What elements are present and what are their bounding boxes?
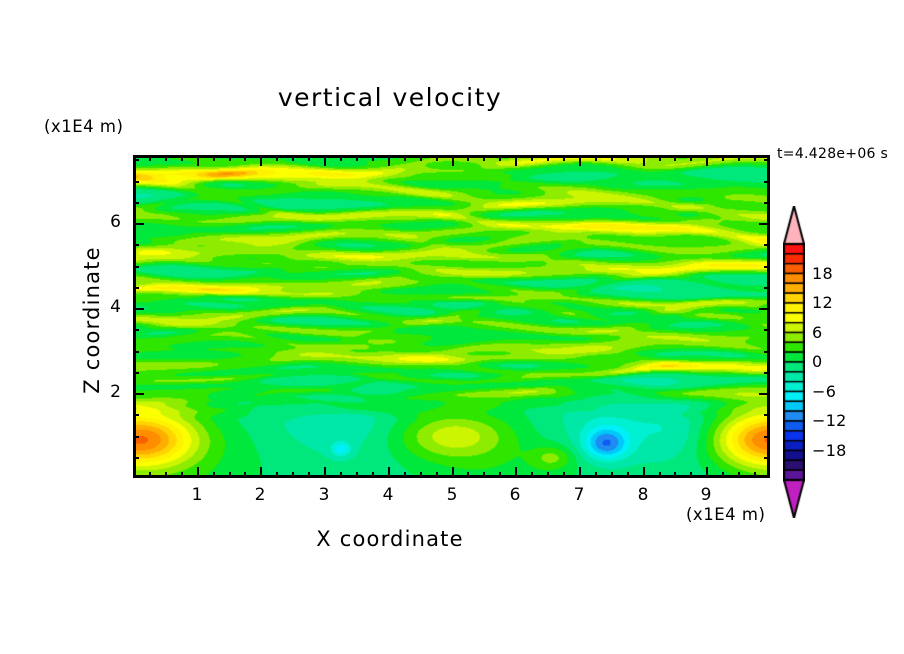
x-major-tick bbox=[324, 467, 326, 478]
x-major-tick bbox=[260, 467, 262, 478]
y-major-tick bbox=[133, 223, 144, 225]
x-top-minor-tick bbox=[308, 155, 310, 161]
x-minor-tick bbox=[276, 472, 278, 478]
x-minor-tick bbox=[308, 472, 310, 478]
x-top-minor-tick bbox=[420, 155, 422, 161]
x-top-minor-tick bbox=[356, 155, 358, 161]
x-tick-label: 9 bbox=[691, 485, 721, 505]
x-top-major-tick bbox=[515, 155, 517, 166]
x-minor-tick bbox=[595, 472, 597, 478]
x-top-minor-tick bbox=[292, 155, 294, 161]
y-minor-tick bbox=[133, 159, 139, 161]
x-top-minor-tick bbox=[276, 155, 278, 161]
x-top-major-tick bbox=[197, 155, 199, 166]
x-tick-label: 2 bbox=[245, 485, 275, 505]
x-minor-tick bbox=[404, 472, 406, 478]
y-right-major-tick bbox=[759, 223, 770, 225]
x-major-tick bbox=[579, 467, 581, 478]
x-tick-label: 1 bbox=[182, 485, 212, 505]
y-minor-tick bbox=[133, 414, 139, 416]
x-minor-tick bbox=[420, 472, 422, 478]
x-top-minor-tick bbox=[738, 155, 740, 161]
colorbar-tick-label: 12 bbox=[812, 293, 833, 312]
y-minor-tick bbox=[133, 266, 139, 268]
y-axis-title: Z coordinate bbox=[52, 0, 76, 200]
x-minor-tick bbox=[499, 472, 501, 478]
x-minor-tick bbox=[467, 472, 469, 478]
page-title: vertical velocity bbox=[0, 83, 780, 112]
x-top-minor-tick bbox=[563, 155, 565, 161]
x-top-minor-tick bbox=[404, 155, 406, 161]
x-top-major-tick bbox=[260, 155, 262, 166]
y-right-minor-tick bbox=[764, 414, 770, 416]
x-top-minor-tick bbox=[611, 155, 613, 161]
x-minor-tick bbox=[611, 472, 613, 478]
x-top-major-tick bbox=[452, 155, 454, 166]
x-top-minor-tick bbox=[722, 155, 724, 161]
x-minor-tick bbox=[372, 472, 374, 478]
y-minor-tick bbox=[133, 372, 139, 374]
x-top-minor-tick bbox=[213, 155, 215, 161]
x-minor-tick bbox=[292, 472, 294, 478]
colorbar-tick-label: 0 bbox=[812, 352, 822, 371]
colorbar-tick-label: −18 bbox=[812, 441, 847, 460]
x-tick-label: 6 bbox=[500, 485, 530, 505]
x-tick-label: 8 bbox=[628, 485, 658, 505]
x-tick-label: 3 bbox=[309, 485, 339, 505]
x-minor-tick bbox=[213, 472, 215, 478]
x-top-major-tick bbox=[388, 155, 390, 166]
y-right-minor-tick bbox=[764, 159, 770, 161]
contour-field-canvas bbox=[136, 158, 767, 475]
x-top-minor-tick bbox=[690, 155, 692, 161]
x-minor-tick bbox=[531, 472, 533, 478]
x-axis-title: X coordinate bbox=[0, 527, 780, 551]
x-major-tick bbox=[452, 467, 454, 478]
colorbar-tick-label: 18 bbox=[812, 264, 833, 283]
y-minor-tick bbox=[133, 457, 139, 459]
x-top-minor-tick bbox=[531, 155, 533, 161]
x-top-minor-tick bbox=[627, 155, 629, 161]
x-major-tick bbox=[197, 467, 199, 478]
y-major-tick bbox=[133, 393, 144, 395]
x-minor-tick bbox=[659, 472, 661, 478]
x-minor-tick bbox=[181, 472, 183, 478]
x-tick-label: 5 bbox=[437, 485, 467, 505]
y-right-major-tick bbox=[759, 308, 770, 310]
x-minor-tick bbox=[627, 472, 629, 478]
y-right-minor-tick bbox=[764, 436, 770, 438]
y-right-minor-tick bbox=[764, 457, 770, 459]
vertical-velocity-figure: vertical velocity (x1E4 m) t=4.428e+06 s… bbox=[0, 0, 904, 654]
colorbar-tick-label: −12 bbox=[812, 411, 847, 430]
y-minor-tick bbox=[133, 351, 139, 353]
x-top-major-tick bbox=[706, 155, 708, 166]
x-minor-tick bbox=[754, 472, 756, 478]
x-minor-tick bbox=[483, 472, 485, 478]
x-minor-tick bbox=[547, 472, 549, 478]
plot-area bbox=[133, 155, 770, 478]
x-top-minor-tick bbox=[229, 155, 231, 161]
y-minor-tick bbox=[133, 329, 139, 331]
x-top-major-tick bbox=[579, 155, 581, 166]
y-minor-tick bbox=[133, 287, 139, 289]
x-top-minor-tick bbox=[483, 155, 485, 161]
y-minor-tick bbox=[133, 436, 139, 438]
x-top-minor-tick bbox=[181, 155, 183, 161]
y-right-minor-tick bbox=[764, 372, 770, 374]
x-axis-unit-label: (x1E4 m) bbox=[686, 505, 765, 524]
y-right-major-tick bbox=[759, 393, 770, 395]
x-minor-tick bbox=[244, 472, 246, 478]
y-right-minor-tick bbox=[764, 181, 770, 183]
x-top-minor-tick bbox=[595, 155, 597, 161]
x-major-tick bbox=[706, 467, 708, 478]
y-right-minor-tick bbox=[764, 351, 770, 353]
x-tick-label: 7 bbox=[564, 485, 594, 505]
y-right-minor-tick bbox=[764, 244, 770, 246]
x-minor-tick bbox=[340, 472, 342, 478]
y-right-minor-tick bbox=[764, 329, 770, 331]
y-minor-tick bbox=[133, 244, 139, 246]
x-top-minor-tick bbox=[165, 155, 167, 161]
x-minor-tick bbox=[738, 472, 740, 478]
x-major-tick bbox=[515, 467, 517, 478]
x-top-minor-tick bbox=[547, 155, 549, 161]
x-top-minor-tick bbox=[659, 155, 661, 161]
x-major-tick bbox=[643, 467, 645, 478]
x-top-major-tick bbox=[324, 155, 326, 166]
x-tick-label: 4 bbox=[373, 485, 403, 505]
x-top-minor-tick bbox=[674, 155, 676, 161]
y-right-minor-tick bbox=[764, 266, 770, 268]
x-top-minor-tick bbox=[372, 155, 374, 161]
y-axis-title-text: Z coordinate bbox=[80, 200, 104, 440]
x-top-minor-tick bbox=[754, 155, 756, 161]
y-right-minor-tick bbox=[764, 202, 770, 204]
x-top-minor-tick bbox=[149, 155, 151, 161]
x-top-major-tick bbox=[643, 155, 645, 166]
x-top-minor-tick bbox=[436, 155, 438, 161]
x-minor-tick bbox=[722, 472, 724, 478]
x-top-minor-tick bbox=[244, 155, 246, 161]
x-top-minor-tick bbox=[499, 155, 501, 161]
colorbar bbox=[783, 206, 805, 518]
colorbar-tick-label: −6 bbox=[812, 382, 836, 401]
y-minor-tick bbox=[133, 181, 139, 183]
x-minor-tick bbox=[690, 472, 692, 478]
x-minor-tick bbox=[436, 472, 438, 478]
y-major-tick bbox=[133, 308, 144, 310]
colorbar-canvas bbox=[783, 206, 805, 518]
x-major-tick bbox=[388, 467, 390, 478]
x-minor-tick bbox=[149, 472, 151, 478]
timestamp-annotation: t=4.428e+06 s bbox=[777, 146, 888, 162]
y-minor-tick bbox=[133, 202, 139, 204]
x-minor-tick bbox=[563, 472, 565, 478]
x-minor-tick bbox=[229, 472, 231, 478]
x-minor-tick bbox=[165, 472, 167, 478]
x-minor-tick bbox=[356, 472, 358, 478]
colorbar-tick-label: 6 bbox=[812, 323, 822, 342]
x-top-minor-tick bbox=[467, 155, 469, 161]
y-right-minor-tick bbox=[764, 287, 770, 289]
x-top-minor-tick bbox=[340, 155, 342, 161]
x-minor-tick bbox=[674, 472, 676, 478]
